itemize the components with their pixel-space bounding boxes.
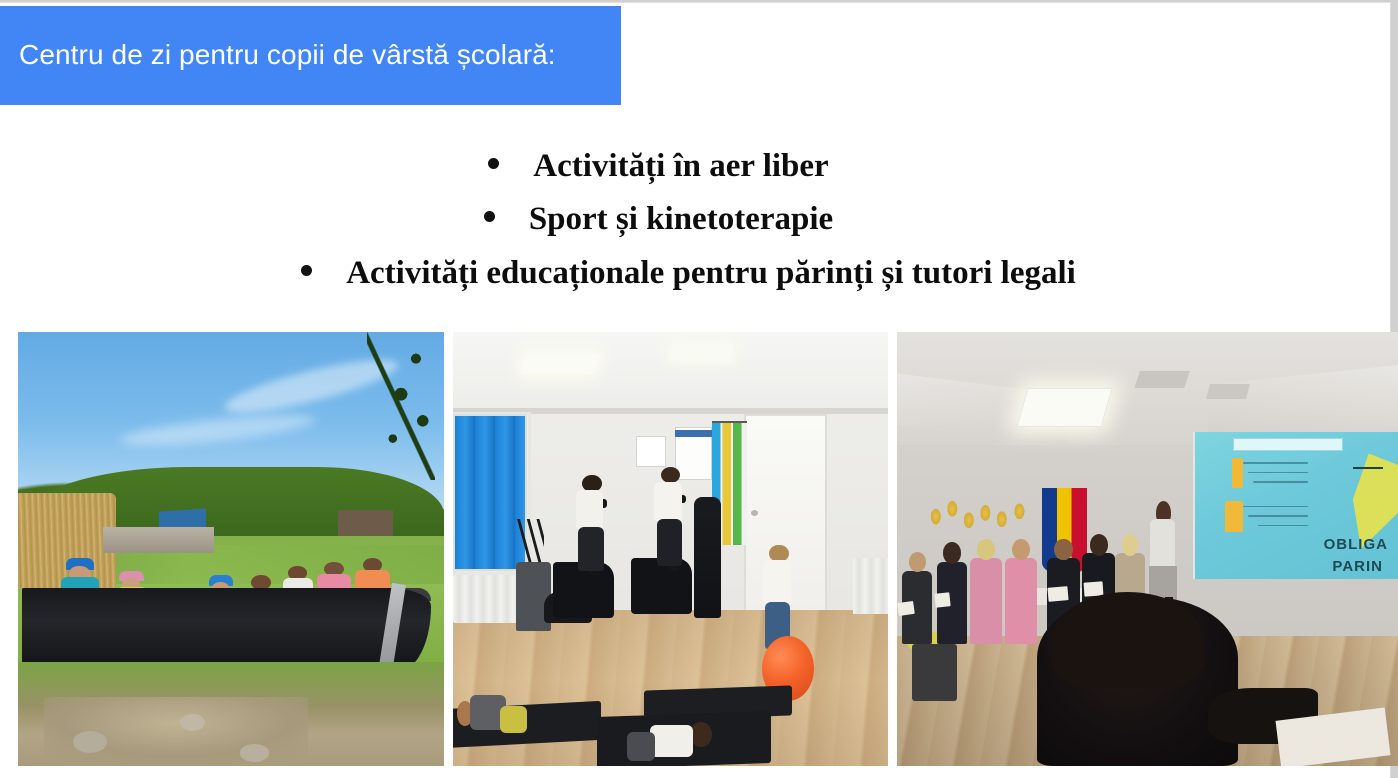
legs: [578, 527, 604, 571]
ceiling-panel: [1206, 384, 1250, 399]
elliptical-trainer: [694, 497, 720, 619]
page-title: Centru de zi pentru copii de vârstă școl…: [19, 39, 556, 71]
bullet-text: Activități în aer liber: [533, 140, 828, 193]
photo-outdoor-boat: [18, 332, 444, 766]
torso: [654, 482, 681, 522]
poster-header-band: [675, 430, 712, 437]
head: [1122, 534, 1139, 556]
gold-balloons-la-multi-ani: [927, 488, 1037, 540]
handout-paper: [897, 601, 914, 616]
torso: [576, 490, 603, 528]
slide-text-obligatii: OBLIGA: [1324, 536, 1388, 553]
chair: [912, 644, 957, 700]
slide-text-parinti: PARIN: [1332, 558, 1383, 575]
list-item: Sport și kinetoterapie: [0, 193, 1391, 246]
slide-number-2: [1225, 501, 1243, 531]
ceiling-light: [520, 354, 600, 374]
slide-text-line: [1243, 506, 1308, 508]
skylight-window: [1017, 388, 1113, 427]
activities-bullet-list: Activități în aer liber Sport și kinetot…: [0, 140, 1391, 300]
person-foreground-hair: [1052, 592, 1202, 687]
legs: [500, 706, 526, 734]
door-knob: [751, 510, 758, 516]
slide-text-line: [1243, 462, 1308, 464]
head: [909, 552, 926, 573]
photo-strip: OBLIGA PARIN: [18, 332, 1398, 766]
slide-text-line: [1253, 481, 1308, 483]
radiator: [853, 558, 888, 614]
person-child-doing-situps: [627, 714, 714, 766]
head: [1012, 539, 1030, 561]
list-item: Activități în aer liber: [0, 140, 1391, 193]
slide-text-line: [1248, 515, 1308, 517]
photo-gym-kinetotherapy: [453, 332, 888, 766]
list-item: Activități educaționale pentru părinți ș…: [0, 247, 1391, 300]
bullet-text: Activități educaționale pentru părinți ș…: [346, 247, 1076, 300]
ceiling: [453, 332, 888, 410]
bullet-dot-icon: [488, 158, 499, 169]
village-hut: [338, 510, 393, 536]
person-audience: [902, 571, 932, 645]
slide-text-line: [1248, 472, 1308, 474]
head: [977, 539, 995, 561]
title-banner: Centru de zi pentru copii de vârstă școl…: [0, 6, 621, 105]
stone: [240, 744, 270, 761]
slide-arrow: [1353, 467, 1383, 469]
torso: [650, 725, 694, 756]
wall-poster: [636, 436, 666, 466]
person-audience: [1005, 558, 1038, 645]
bullet-dot-icon: [484, 211, 495, 222]
bullet-text: Sport și kinetoterapie: [529, 193, 833, 246]
slide-number-1: [1232, 458, 1243, 488]
handout-paper: [1047, 586, 1068, 602]
head: [1054, 539, 1072, 561]
tree-branch: [367, 332, 435, 480]
torso: [763, 560, 791, 604]
radiator: [453, 575, 518, 623]
photo-parents-meeting: OBLIGA PARIN: [897, 332, 1398, 766]
slide-text-line: [1258, 525, 1308, 527]
person-audience: [937, 562, 967, 644]
ceiling-light: [669, 345, 733, 361]
stone-wall: [103, 527, 214, 553]
person-child-cycling: [653, 467, 688, 567]
person-child-cycling: [575, 475, 610, 570]
slide-title-card: [1233, 438, 1343, 451]
head: [690, 722, 713, 747]
presenter-torso: [1150, 519, 1175, 571]
slide-root: Centru de zi pentru copii de vârstă școl…: [0, 0, 1398, 778]
person-child-on-mat: [457, 692, 527, 740]
person-audience: [970, 558, 1003, 645]
head: [1090, 534, 1108, 556]
handout-paper: [934, 593, 950, 609]
bullet-dot-icon: [301, 265, 312, 276]
legs: [627, 732, 655, 761]
person-child-on-ball: [762, 545, 797, 649]
wooden-boat: [22, 588, 431, 670]
legs: [657, 519, 683, 566]
head: [661, 467, 680, 484]
head: [943, 542, 960, 563]
ceiling-panel: [1135, 371, 1191, 388]
